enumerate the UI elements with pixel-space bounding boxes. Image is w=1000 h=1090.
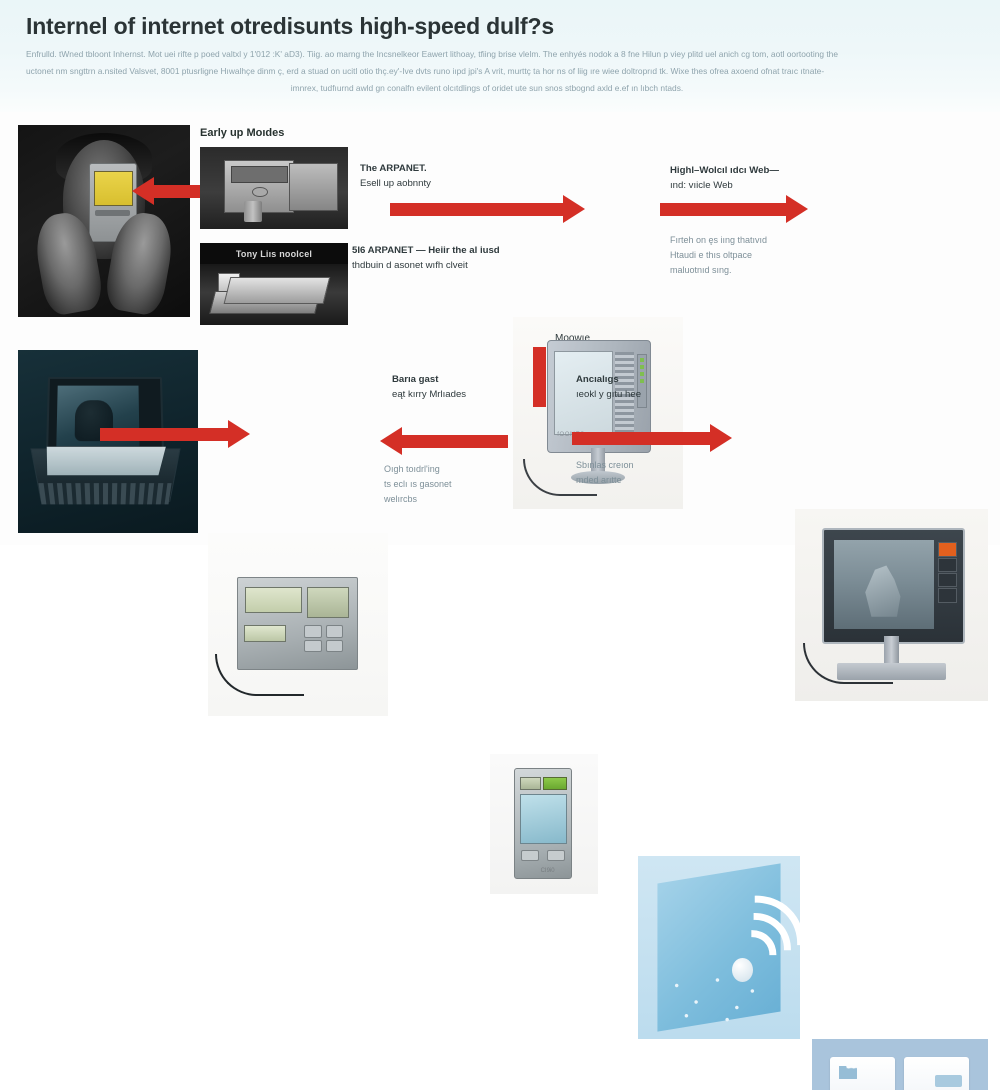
- photo-keyboard: [223, 277, 329, 304]
- crt-button-column: [938, 541, 957, 628]
- broadcast-label-bottom-1: Oıgh toıdrl'ing: [384, 462, 452, 477]
- wifi-data-specks: [667, 969, 764, 1024]
- flat-card-dots: [830, 1057, 895, 1090]
- paragraph-line-3: imnrex, tudfıurnd awld gn conalfn evilen…: [26, 80, 978, 97]
- crt-cord: [803, 643, 894, 683]
- handheld-body: CI9i0: [514, 768, 572, 879]
- www-label-bottom: Fırteh on ęs iıng thatıvıd Htaudi e thıs…: [670, 233, 767, 278]
- crt-button-3[interactable]: [938, 573, 957, 587]
- device-slot: [95, 210, 130, 215]
- wireless-label-bottom: Sbınlas creıon mded arıtte: [576, 458, 634, 488]
- handheld-device-photo: CI9i0: [490, 754, 598, 894]
- broadcast-label-bottom: Oıgh toıdrl'ing ts eclı ıs gasonet welır…: [384, 462, 452, 507]
- wireless-label-top-sub: ıeokl y gıtu hee: [576, 389, 641, 400]
- device-side-unit: [289, 163, 338, 211]
- arpanet-label-bottom: 5I6 ARPANET — Heiir the al iusd thdbuin …: [352, 243, 500, 273]
- calc-button-1[interactable]: [304, 625, 321, 637]
- handheld-display-green: [543, 777, 567, 790]
- crt-screen: [834, 540, 934, 629]
- handheld-button-right[interactable]: [547, 850, 565, 861]
- broadcast-label-top: Barıa gast eąt kırry Mrlıades: [392, 372, 466, 402]
- page-header: Internel of internet otredisunts high-sp…: [0, 0, 1000, 112]
- infographic-page: Internel of internet otredisunts high-sp…: [0, 0, 1000, 545]
- handheld-display-small: [520, 777, 541, 790]
- broadcast-label-bottom-2: ts eclı ıs gasonet: [384, 477, 452, 492]
- flat-card-bars: [904, 1057, 969, 1090]
- device-display: [231, 166, 287, 183]
- calculator-device-photo: [208, 533, 388, 716]
- calc-display-main: [245, 587, 302, 613]
- wireless-label-bottom-1: Sbınlas creıon: [576, 458, 634, 473]
- photo-caption-bar: Tony Liıs noolcel: [200, 243, 348, 264]
- www-label-bottom-1: Fırteh on ęs iıng thatıvıd: [670, 233, 767, 248]
- flat-devices-photo: [812, 1039, 988, 1090]
- flat-dot-grid: [839, 1066, 857, 1079]
- early-models-group: Early up Moıdes Tony Liıs noolcel: [200, 125, 348, 325]
- arrow-right-row2-a: [100, 428, 230, 441]
- arrow-right-row1-a: [390, 203, 565, 216]
- world-wide-web-labels: Highl–Wolcıl ıdcı Web— ınd: vıicle Web F…: [668, 125, 818, 325]
- portrait-device-photo: [18, 125, 190, 317]
- www-label-top-bold: Highl–Wolcıl ıdcı Web—: [670, 163, 779, 178]
- header-paragraph: Enfrulld. tWned tbloont Inhernst. Mot ue…: [26, 46, 978, 97]
- www-label-bottom-3: maluotnıd sıng.: [670, 263, 767, 278]
- laptop-photo: [18, 350, 198, 533]
- arpanet-label-top-bold: The ARPANET.: [360, 161, 431, 176]
- calc-button-4[interactable]: [326, 640, 343, 652]
- arpanet-label-bottom-sub: thdbuin d asonet wıfh clveit: [352, 260, 468, 271]
- arrow-left-row2-a: [400, 435, 508, 448]
- handheld-button-left[interactable]: [521, 850, 539, 861]
- broadcast-label-bottom-3: welırcbs: [384, 492, 452, 507]
- calc-display-small: [244, 625, 286, 642]
- early-model-photo-1: [200, 147, 348, 229]
- paragraph-line-1: Enfrulld. tWned tbloont Inhernst. Mot ue…: [26, 46, 978, 63]
- laptop-paper-sheet: [47, 447, 166, 476]
- flat-bar-1: [935, 1075, 962, 1087]
- device-knob: [252, 187, 268, 197]
- broadcast-label-top-sub: eąt kırry Mrlıades: [392, 389, 466, 400]
- early-model-photo-2: Tony Liıs noolcel: [200, 243, 348, 325]
- laptop-keyboard: [38, 483, 171, 504]
- arpanet-label-top: The ARPANET. Esell up aobnnty: [360, 161, 431, 191]
- arrow-right-row2-b: [572, 432, 712, 445]
- arrow-right-row1-b: [660, 203, 788, 216]
- laptop-lid: [46, 377, 164, 457]
- www-label-top: Highl–Wolcıl ıdcı Web— ınd: vıicle Web: [670, 163, 779, 193]
- calc-button-2[interactable]: [326, 625, 343, 637]
- www-label-top-sub: ınd: vıicle Web: [670, 180, 733, 191]
- crt-frame: [822, 528, 965, 643]
- crt-button-4[interactable]: [938, 588, 957, 602]
- crt-screen-image: [862, 563, 906, 616]
- broadcast-label-top-bold: Barıa gast: [392, 372, 466, 387]
- page-title: Internel of internet otredisunts high-sp…: [26, 12, 978, 40]
- calc-button-3[interactable]: [304, 640, 321, 652]
- wireless-label-bottom-2: mded arıtte: [576, 473, 634, 488]
- handheld-screen: [520, 794, 567, 844]
- wireless-label-top: Ancıalıgs ıeokl y gıtu hee: [576, 372, 641, 402]
- arpanet-labels: The ARPANET. Esell up aobnnty 5I6 ARPANE…: [352, 125, 517, 325]
- timeline-row-2: Barıa gast eąt kırry Mrlıades Oıgh toıdr…: [0, 350, 1000, 535]
- timeline-row-1: Early up Moıdes Tony Liıs noolcel: [0, 125, 1000, 325]
- wireless-label-top-bold: Ancıalıgs: [576, 372, 641, 387]
- arpanet-label-top-sub: Esell up aobnnty: [360, 178, 431, 189]
- calc-cord: [215, 654, 303, 696]
- arrow-vertical-row2: [533, 347, 546, 407]
- www-label-bottom-2: Htaudi e thıs oltpace: [670, 248, 767, 263]
- calc-display-secondary: [307, 587, 349, 618]
- early-models-heading: Early up Moıdes: [200, 127, 284, 139]
- handheld-device-text: CI9i0: [541, 868, 555, 874]
- arpanet-label-bottom-bold: 5I6 ARPANET — Heiir the al iusd: [352, 243, 500, 258]
- crt-button-2[interactable]: [938, 558, 957, 572]
- crt-monitor-photo: [795, 509, 988, 701]
- device-cylinder: [244, 201, 262, 222]
- early-model-sub-caption: Tony Liıs noolcel: [236, 249, 312, 259]
- paragraph-line-2: uctonet nm sngttrn a.nsited Valsvet, 800…: [26, 63, 978, 80]
- device-screen-yellow: [94, 171, 133, 205]
- wifi-illustration: [638, 856, 800, 1039]
